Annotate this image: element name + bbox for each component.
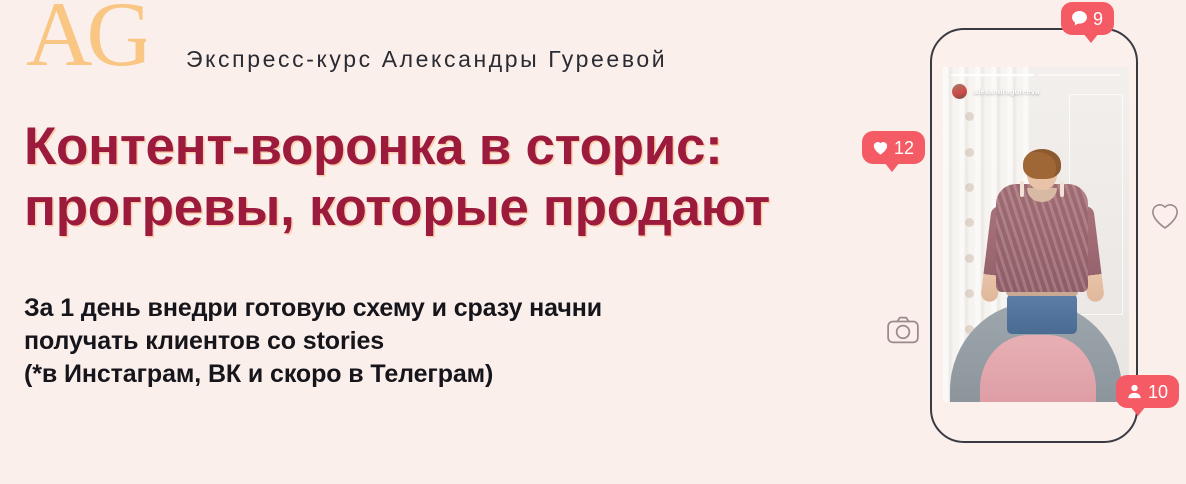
phone-mockup: alexandragureeva xyxy=(930,28,1138,443)
subcopy-line-1: За 1 день внедри готовую схему и сразу н… xyxy=(24,292,804,325)
story-username[interactable]: alexandragureeva xyxy=(974,87,1039,96)
status-badge-comments[interactable]: 9 xyxy=(1061,2,1114,35)
page-title: Контент-воронка в сторис: прогревы, кото… xyxy=(24,116,884,238)
comment-icon xyxy=(1070,9,1089,28)
person-hair xyxy=(1023,149,1061,179)
phone-screen: alexandragureeva xyxy=(943,67,1129,402)
badge-count: 9 xyxy=(1093,10,1103,28)
status-badge-likes[interactable]: 12 xyxy=(862,131,925,164)
ag-monogram-logo[interactable]: AG xyxy=(26,0,146,82)
course-eyebrow: Экспресс-курс Александры Гуреевой xyxy=(186,44,667,74)
headline-line-2: прогревы, которые продают xyxy=(24,177,884,238)
camera-outline-icon xyxy=(882,311,924,349)
heart-outline-icon xyxy=(1146,197,1184,233)
badge-count: 12 xyxy=(894,139,914,157)
avatar[interactable] xyxy=(951,83,968,100)
person-earring-left xyxy=(1020,181,1024,197)
story-progress-segment xyxy=(1038,74,1121,76)
hero-banner: AG Экспресс-курс Александры Гуреевой Кон… xyxy=(0,0,1186,484)
story-photo xyxy=(943,67,1129,402)
subheadline: За 1 день внедри готовую схему и сразу н… xyxy=(24,292,804,391)
person-jeans xyxy=(1007,294,1077,334)
story-header[interactable]: alexandragureeva xyxy=(951,83,1039,100)
subcopy-line-2: получать клиентов со stories xyxy=(24,325,804,358)
person-icon xyxy=(1125,382,1144,401)
story-progress-bars[interactable] xyxy=(951,74,1121,76)
story-progress-segment xyxy=(951,74,1034,76)
person-earring-right xyxy=(1060,181,1064,197)
headline-line-1: Контент-воронка в сторис: xyxy=(24,116,884,177)
logo-text: AG xyxy=(26,0,146,82)
status-badge-followers[interactable]: 10 xyxy=(1116,375,1179,408)
heart-icon xyxy=(871,138,890,157)
badge-count: 10 xyxy=(1148,383,1168,401)
subcopy-line-3: (*в Инстаграм, ВК и скоро в Телеграм) xyxy=(24,358,804,391)
